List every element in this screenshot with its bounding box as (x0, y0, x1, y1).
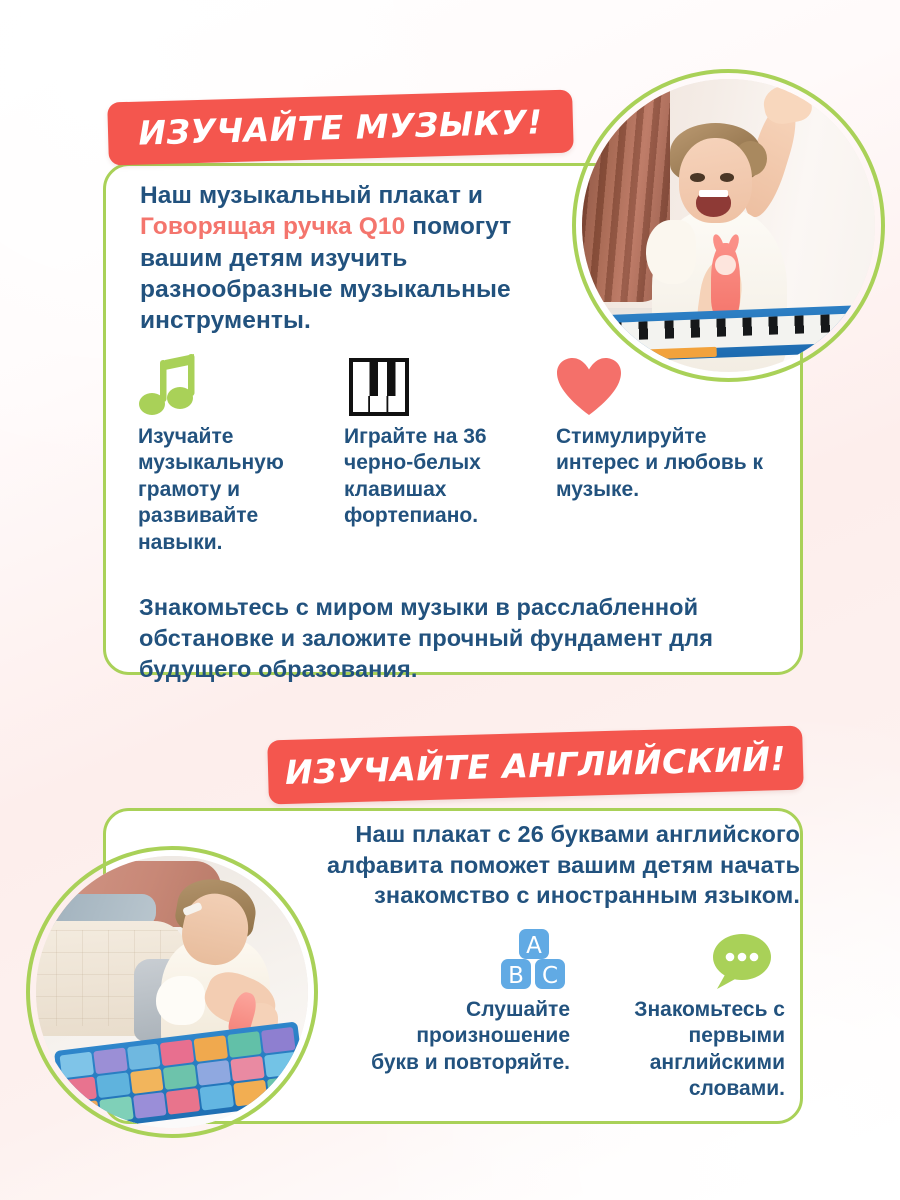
music-section-banner: ИЗУЧАЙТЕ МУЗЫКУ! (107, 90, 574, 166)
alphabet-mat-cell (267, 1075, 301, 1101)
music-intro-line5: инструменты. (140, 307, 311, 334)
svg-text:C: C (542, 963, 558, 989)
alphabet-mat-cell (233, 1079, 267, 1105)
alphabet-mat-cell (163, 1063, 197, 1089)
music-banner-label: ИЗУЧАЙТЕ МУЗЫКУ! (138, 102, 543, 152)
alphabet-mat-cell (132, 1092, 166, 1118)
english-banner-label: ИЗУЧАЙТЕ АНГЛИЙСКИЙ! (284, 739, 786, 792)
poster-root: ИЗУЧАЙТЕ МУЗЫКУ! (0, 0, 900, 1200)
music-intro-line3: вашим детям изучить (140, 245, 407, 272)
alphabet-mat-cell (65, 1100, 99, 1126)
alphabet-mat-cell (62, 1076, 96, 1102)
english-feature-2-label: Знакомьтесь с первыми английскими словам… (595, 997, 785, 1103)
svg-text:A: A (526, 933, 542, 959)
alphabet-mat-cell (99, 1096, 133, 1122)
english-feature-1-label: Слушайте произношение букв и повторяйте. (370, 997, 570, 1076)
music-note-icon (138, 352, 200, 420)
music-feature-2-label: Играйте на 36 черно-белых клавишах форте… (344, 424, 529, 530)
svg-text:B: B (508, 963, 524, 989)
alphabet-mat-cell (230, 1055, 264, 1081)
music-section-photo: Девочка с поднятой рукой и говорящей руч… (572, 69, 885, 382)
music-intro-text: Наш музыкальный плакат и Говорящая ручка… (140, 180, 540, 337)
alphabet-mat-cell (160, 1039, 194, 1065)
alphabet-mat-cell (93, 1047, 127, 1073)
alphabet-mat-cell (96, 1071, 130, 1097)
alphabet-mat-cell (261, 1026, 295, 1052)
alphabet-mat-cell (227, 1031, 261, 1057)
music-intro-highlight: Говорящая ручка Q10 (140, 213, 405, 240)
piano-keys-icon (349, 358, 409, 416)
music-feature-1-label: Изучайте музыкальную грамоту и развивайт… (138, 424, 323, 556)
english-section-photo: Девочка изучает английский алфавит с гов… (26, 846, 318, 1138)
alphabet-mat-cell (264, 1051, 298, 1077)
alphabet-mat-cell (194, 1035, 228, 1061)
abc-blocks-icon: A B C (499, 928, 567, 990)
alphabet-mat-cell (200, 1083, 234, 1109)
alphabet-mat-cell (197, 1059, 231, 1085)
alphabet-mat-cell (126, 1043, 160, 1069)
alphabet-mat-cell (166, 1088, 200, 1114)
english-intro-text: Наш плакат с 26 буквами английского алфа… (278, 819, 800, 911)
music-intro-line4: разнообразные музыкальные (140, 276, 511, 303)
music-outro-text: Знакомьтесь с миром музыки в расслабленн… (139, 592, 779, 685)
alphabet-mat-cell (59, 1051, 93, 1077)
music-intro-line1: Наш музыкальный плакат и (140, 182, 483, 209)
speech-bubble-icon (706, 932, 772, 990)
alphabet-mat-cell (129, 1067, 163, 1093)
english-section-banner: ИЗУЧАЙТЕ АНГЛИЙСКИЙ! (267, 726, 804, 805)
music-intro-line2: помогут (405, 213, 511, 240)
music-feature-3-label: Стимулируйте интерес и любовь к музыке. (556, 424, 786, 503)
